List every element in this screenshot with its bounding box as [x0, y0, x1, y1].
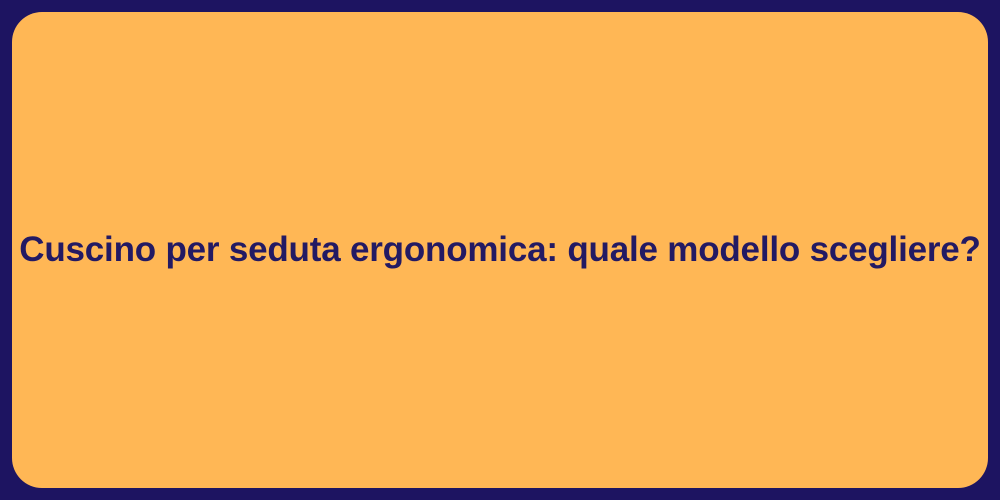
banner-frame: Cuscino per seduta ergonomica: quale mod…: [0, 0, 1000, 500]
banner-headline: Cuscino per seduta ergonomica: quale mod…: [19, 228, 980, 272]
banner-card: Cuscino per seduta ergonomica: quale mod…: [12, 12, 988, 488]
